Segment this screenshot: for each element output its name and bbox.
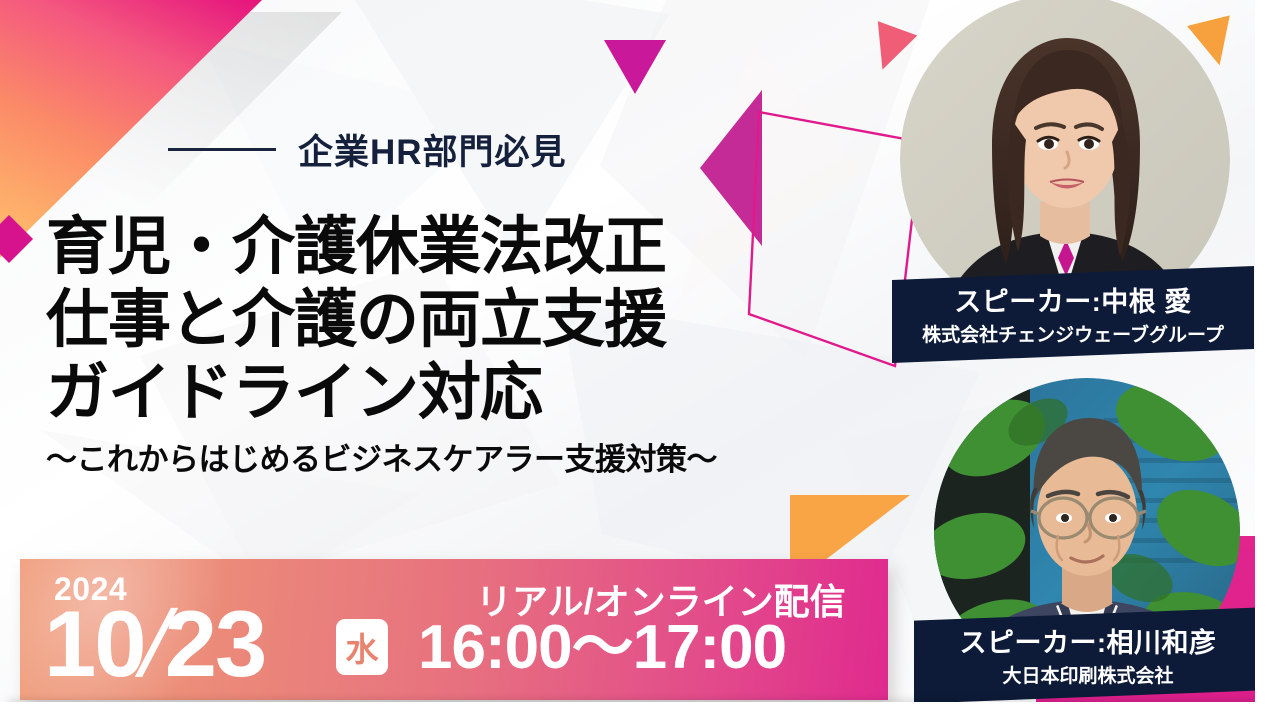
speaker-2-nameplate: スピーカー:相川和彦 大日本印刷株式会社 bbox=[914, 607, 1255, 702]
speaker-1-organization: 株式会社チェンジウェーブグループ bbox=[910, 320, 1236, 347]
event-month: 10 bbox=[44, 591, 145, 696]
subtitle: 〜これからはじめるビジネスケアラー支援対策〜 bbox=[46, 434, 886, 479]
banner-background: 企業HR部門必見 育児・介護休業法改正 仕事と介護の両立支援 ガイドライン対応 … bbox=[0, 0, 1255, 702]
webinar-banner: 企業HR部門必見 育児・介護休業法改正 仕事と介護の両立支援 ガイドライン対応 … bbox=[0, 0, 1280, 720]
title-line-1: 育児・介護休業法改正 bbox=[46, 211, 886, 284]
eyebrow: 企業HR部門必見 bbox=[168, 124, 567, 175]
speaker-1-name: スピーカー:中根 愛 bbox=[910, 280, 1236, 319]
title-line-2: 仕事と介護の両立支援 bbox=[46, 284, 886, 357]
event-time-range: 16:00〜17:00 bbox=[418, 617, 786, 679]
page-title: 育児・介護休業法改正 仕事と介護の両立支援 ガイドライン対応 〜これからはじめる… bbox=[46, 211, 886, 479]
speaker-2-name: スピーカー:相川和彦 bbox=[932, 621, 1244, 660]
bottom-white-margin bbox=[0, 702, 1280, 720]
title-line-3: ガイドライン対応 bbox=[46, 357, 886, 430]
event-date: 10/23 bbox=[44, 597, 265, 691]
decorative-triangle-magenta-small bbox=[604, 40, 666, 94]
speaker-1: スピーカー:中根 愛 株式会社チェンジウェーブグループ bbox=[892, 0, 1255, 354]
eyebrow-rule bbox=[168, 148, 276, 151]
day-of-week-badge: 水 bbox=[336, 619, 388, 675]
eyebrow-label: 企業HR部門必見 bbox=[298, 124, 567, 175]
speaker-1-nameplate: スピーカー:中根 愛 株式会社チェンジウェーブグループ bbox=[892, 266, 1254, 363]
right-white-margin bbox=[1255, 0, 1280, 720]
event-day: 23 bbox=[165, 591, 266, 696]
speaker-2-organization: 大日本印刷株式会社 bbox=[932, 661, 1244, 688]
speaker-2: スピーカー:相川和彦 大日本印刷株式会社 bbox=[922, 378, 1255, 702]
schedule-bar: 2024 10/23 水 リアル/オンライン配信 16:00〜17:00 bbox=[20, 559, 888, 700]
